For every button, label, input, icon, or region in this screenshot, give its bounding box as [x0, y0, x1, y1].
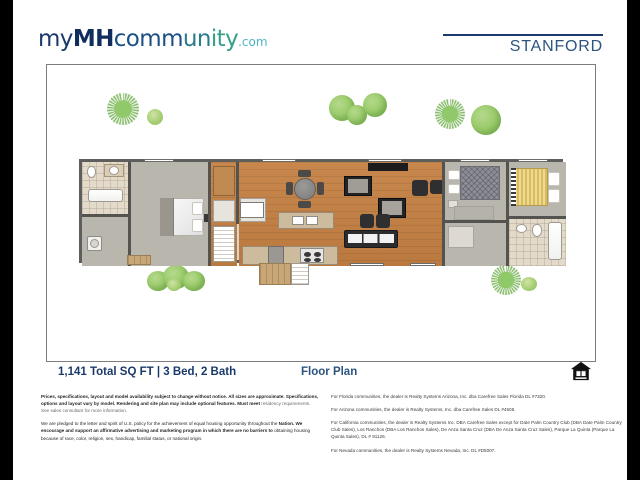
brand-logo[interactable]: myMHcommunity.com [38, 26, 268, 52]
armchair-icon [376, 214, 390, 228]
caption-row: 1,141 Total SQ FT | 3 Bed, 2 Bath Floor … [46, 366, 594, 386]
entry-deck [259, 263, 291, 285]
sink-icon [306, 216, 318, 225]
letterbox-bar-left [0, 0, 13, 480]
closet-shelf [213, 166, 235, 196]
media-console-icon [368, 163, 408, 171]
armchair-icon [360, 214, 374, 228]
page-header: myMHcommunity.com STANFORD [13, 0, 627, 62]
bathtub-icon [88, 189, 123, 202]
logo-text-my: my [38, 26, 73, 52]
tree-icon [471, 105, 501, 135]
disclaimer-paragraph: Prices, specifications, layout and model… [41, 393, 319, 414]
brochure-page: myMHcommunity.com STANFORD [13, 0, 627, 480]
washer-drum-icon [90, 239, 99, 248]
letterbox-bar-right [627, 0, 640, 480]
bed-icon [514, 168, 548, 206]
disclaimer-right-column: For Florida communities, the dealer is R… [331, 393, 623, 460]
tree-icon [363, 93, 387, 117]
burner-icon [314, 258, 321, 262]
side-table-inner [382, 201, 402, 215]
pillow-icon [548, 189, 560, 203]
home-outline [79, 159, 563, 263]
window-icon [368, 159, 402, 162]
burner-icon [304, 252, 311, 257]
disclaimer-paragraph: We are pledged to the letter and spirit … [41, 420, 319, 441]
burner-icon [314, 252, 321, 257]
burner-icon [304, 258, 311, 262]
sink-icon [516, 224, 527, 233]
headboard-icon [511, 168, 516, 206]
dealer-disclosure-florida: For Florida communities, the dealer is R… [331, 393, 623, 400]
sink-icon [109, 166, 119, 175]
window-icon [518, 159, 548, 162]
logo-text-comm: comm [114, 26, 183, 52]
screenshot-stage: myMHcommunity.com STANFORD [0, 0, 640, 480]
window-icon [144, 159, 174, 162]
dining-chair-icon [298, 170, 311, 177]
sofa-icon [344, 230, 398, 248]
dining-table-icon [294, 178, 316, 200]
closet-shelf [213, 200, 235, 222]
window-icon [262, 159, 296, 162]
tree-icon [107, 93, 139, 125]
disclaimer-text: We are pledged to the letter and spirit … [41, 421, 279, 426]
pillow-icon [448, 184, 460, 194]
bed-icon [460, 166, 500, 200]
equal-housing-opportunity-icon [570, 360, 592, 382]
bed-blanket [160, 198, 174, 236]
tree-icon [491, 265, 521, 295]
toilet-icon [532, 224, 542, 237]
dining-chair-icon [298, 201, 311, 208]
shrub-icon [147, 109, 163, 125]
interior-wall [82, 214, 130, 217]
disclaimer-left-column: Prices, specifications, layout and model… [41, 393, 319, 448]
sink-icon [292, 216, 304, 225]
dealer-disclosure-arizona: For Arizona communities, the dealer is R… [331, 406, 623, 413]
square-footage-summary: 1,141 Total SQ FT | 3 Bed, 2 Bath [58, 366, 236, 378]
window-icon [460, 159, 490, 162]
toilet-icon [87, 166, 96, 178]
pillow-icon [192, 219, 203, 232]
bathtub-icon [548, 222, 562, 260]
pillow-icon [548, 172, 560, 186]
dealer-disclosure-california: For California communities, the dealer i… [331, 419, 623, 440]
logo-text-un: un [183, 26, 211, 52]
dealer-disclosure-nevada: For Nevada communities, the dealer is Re… [331, 447, 623, 454]
floor-plan-label: Floor Plan [301, 366, 357, 378]
tree-icon [435, 99, 465, 129]
window-icon [350, 263, 384, 266]
shrub-icon [521, 277, 537, 291]
dining-chair-icon [317, 182, 324, 195]
logo-text-dotcom: .com [238, 35, 267, 49]
shrub-icon [167, 279, 181, 291]
page-title: STANFORD [510, 38, 603, 56]
closet-icon [448, 226, 474, 248]
console-inner [348, 179, 368, 193]
shrub-icon [183, 271, 205, 291]
closet-doors [213, 226, 235, 262]
pillow-icon [448, 170, 460, 180]
floor-plan-frame [46, 64, 596, 362]
area-rug [454, 206, 494, 220]
rear-deck [127, 255, 151, 265]
title-divider-rule [443, 34, 603, 36]
pillow-icon [192, 202, 203, 215]
armchair-icon [412, 180, 428, 196]
logo-text-mh: MH [73, 26, 114, 52]
range-icon [300, 248, 324, 263]
logo-text-ity: ity [211, 26, 238, 52]
entry-steps [291, 263, 309, 285]
window-icon [240, 202, 264, 218]
window-icon [410, 263, 436, 266]
dining-chair-icon [286, 182, 293, 195]
